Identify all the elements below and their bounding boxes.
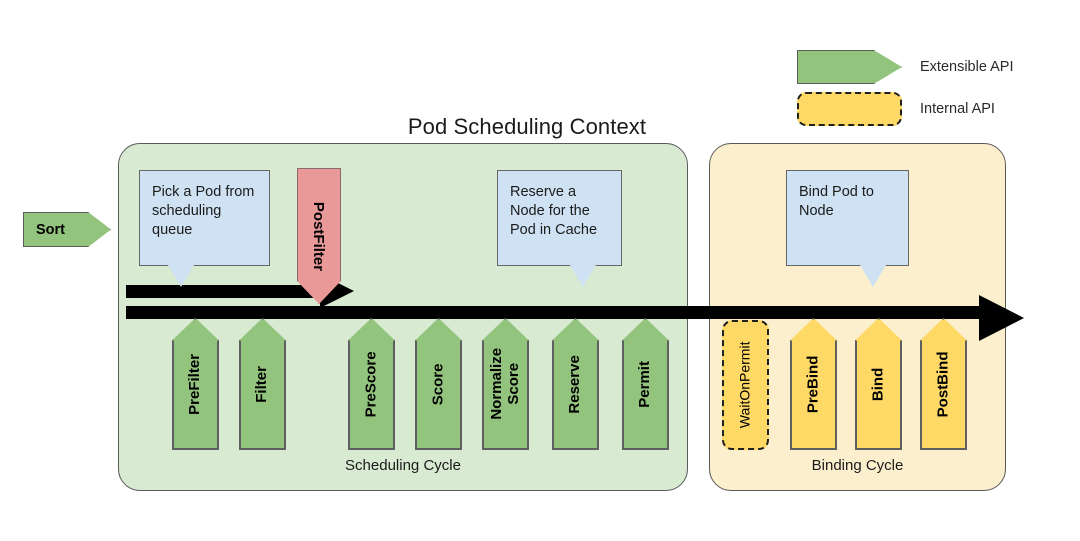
sort-plugin-label: Sort	[36, 222, 65, 238]
extensible-api-swatch-icon	[797, 50, 902, 84]
plugin-prescore-label: PreScore	[363, 351, 380, 417]
plugin-normalize-score-label: Normalize Score	[489, 348, 523, 420]
legend-label-extensible-api: Extensible API	[920, 59, 1014, 75]
plugin-prefilter-label: PreFilter	[187, 354, 204, 415]
plugin-bind: Bind	[855, 318, 902, 450]
plugin-postbind-label: PostBind	[935, 351, 952, 417]
plugin-waitonpermit: WaitOnPermit	[722, 320, 769, 450]
plugin-bind-label: Bind	[870, 367, 887, 400]
scheduling-flow-arrow-shaft	[126, 285, 322, 298]
main-flow-arrow-shaft	[126, 306, 981, 319]
plugin-normalize-score: Normalize Score	[482, 318, 529, 450]
binding-cycle-caption: Binding Cycle	[710, 457, 1005, 474]
plugin-filter-label: Filter	[254, 366, 271, 403]
sort-plugin-arrow: Sort	[23, 212, 111, 247]
plugin-permit-label: Permit	[637, 361, 654, 408]
plugin-postfilter-label: PostFilter	[311, 201, 328, 270]
scheduling-cycle-caption: Scheduling Cycle	[119, 457, 687, 474]
callout-reserve-node-tail-icon	[570, 265, 596, 287]
plugin-reserve-label: Reserve	[567, 355, 584, 413]
callout-pick-pod: Pick a Pod from scheduling queue	[139, 170, 270, 266]
diagram-title: Pod Scheduling Context	[0, 114, 1080, 140]
plugin-score-label: Score	[430, 363, 447, 405]
plugin-prefilter: PreFilter	[172, 318, 219, 450]
plugin-postbind: PostBind	[920, 318, 967, 450]
callout-bind-pod: Bind Pod to Node	[786, 170, 909, 266]
callout-reserve-node: Reserve a Node for the Pod in Cache	[497, 170, 622, 266]
plugin-reserve: Reserve	[552, 318, 599, 450]
plugin-prescore: PreScore	[348, 318, 395, 450]
plugin-score: Score	[415, 318, 462, 450]
plugin-waitonpermit-label: WaitOnPermit	[738, 342, 754, 429]
plugin-prebind-label: PreBind	[805, 355, 822, 413]
diagram-title-text: Pod Scheduling Context	[408, 114, 646, 139]
plugin-filter: Filter	[239, 318, 286, 450]
plugin-postfilter: PostFilter	[297, 168, 341, 304]
plugin-prebind: PreBind	[790, 318, 837, 450]
plugin-permit: Permit	[622, 318, 669, 450]
legend-item-extensible-api: Extensible API	[797, 50, 1014, 84]
callout-pick-pod-tail-icon	[168, 265, 194, 287]
callout-bind-pod-tail-icon	[860, 265, 886, 287]
main-flow-arrowhead-icon	[979, 295, 1024, 341]
